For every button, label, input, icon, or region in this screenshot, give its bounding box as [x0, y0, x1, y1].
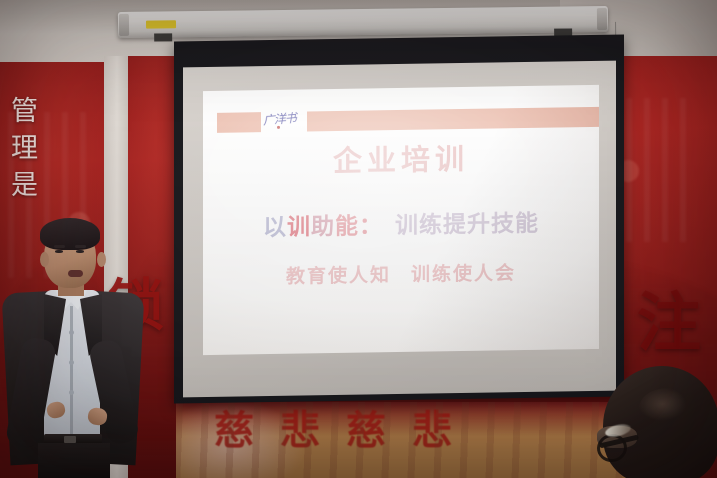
presenter-belt-buckle	[64, 436, 76, 443]
header-block-right	[307, 107, 599, 132]
presenter-shirt-button	[69, 390, 74, 395]
audience-member	[591, 360, 717, 478]
presenter-eyebrow-left	[54, 245, 65, 248]
right-banner-big-character: 注	[637, 292, 701, 356]
presenter-hair	[40, 218, 100, 250]
subtitle-seg-3: 助	[311, 213, 335, 240]
subtitle-seg-4: 能：	[335, 212, 383, 240]
roller-mount-left	[154, 33, 172, 41]
subtitle-seg-1: 以	[263, 214, 287, 241]
tagline-right: 训练使人会	[411, 262, 516, 286]
audience-hair-highlight	[639, 388, 697, 428]
subtitle-seg-2: 训	[287, 213, 311, 240]
slide-subtitle-line: 以训助能：训练提升技能	[203, 203, 599, 243]
roller-endcap-left	[119, 14, 129, 36]
presenter-mouth	[68, 270, 83, 277]
roller-warning-label	[146, 20, 176, 28]
presenter-ear-left	[40, 252, 49, 267]
left-banner-vertical-text: 管理是	[2, 96, 41, 207]
slide-title: 企业培训	[203, 143, 599, 178]
presenter-shirt-button	[69, 360, 74, 365]
photo-scene: 管理是 锁 注 慈悲慈悲	[0, 0, 717, 478]
slide-tagline-line: 教育使人知训练使人会	[203, 257, 599, 290]
slide-header-bar: 广洋书	[203, 107, 599, 133]
projector-screen: 广洋书 企业培训 以训助能：训练提升技能 教育使人知训练使人会	[174, 34, 624, 403]
presenter-trousers	[38, 443, 110, 478]
presenter-ear-right	[97, 252, 106, 267]
company-logo-icon: 广洋书	[262, 108, 307, 134]
roller-endcap-right	[597, 8, 607, 30]
bottom-artwork-strip: 慈悲慈悲	[176, 402, 636, 478]
logo-seal-dot-icon	[277, 126, 280, 129]
header-block-left	[217, 112, 261, 133]
presenter-shirt-placket	[70, 306, 73, 434]
presenter-eye-left	[55, 250, 63, 253]
presenter	[0, 218, 150, 478]
subtitle-seg-5: 训练提升技能	[395, 210, 539, 239]
screen-fabric: 广洋书 企业培训 以训助能：训练提升技能 教育使人知训练使人会	[183, 61, 616, 398]
projected-slide: 广洋书 企业培训 以训助能：训练提升技能 教育使人知训练使人会	[203, 85, 599, 355]
tagline-left: 教育使人知	[286, 264, 391, 288]
presenter-eyebrow-right	[75, 245, 86, 248]
presenter-eye-right	[76, 250, 84, 253]
presenter-shirt-button	[69, 330, 74, 335]
artwork-drape-texture	[176, 402, 636, 478]
